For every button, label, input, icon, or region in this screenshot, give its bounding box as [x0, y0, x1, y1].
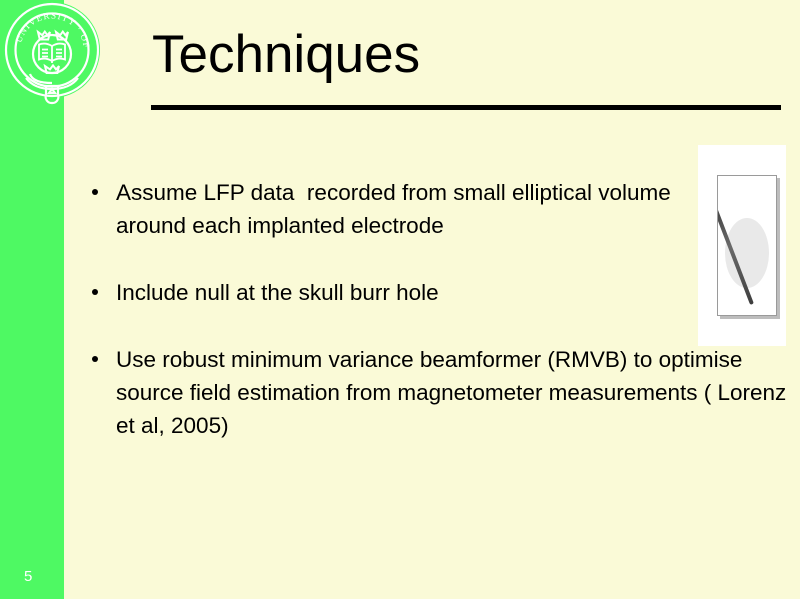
bullet-point-icon — [92, 289, 98, 295]
bullet-item: Include null at the skull burr hole — [88, 276, 716, 309]
bullet-text: Assume LFP data recorded from small elli… — [116, 176, 716, 242]
bullet-point-icon — [92, 356, 98, 362]
bullet-item: Assume LFP data recorded from small elli… — [88, 176, 716, 242]
title-underline-rule — [151, 105, 781, 110]
bullet-point-icon — [92, 189, 98, 195]
slide-title: Techniques — [152, 25, 420, 85]
oxford-university-crest-logo: UNIVERSITY · OF · OXFORD — [2, 2, 106, 106]
slide-number: 5 — [24, 568, 48, 585]
bullet-text: Use robust minimum variance beamformer (… — [116, 343, 788, 442]
electrode-diagram-image — [698, 145, 786, 346]
bullet-item: Use robust minimum variance beamformer (… — [88, 343, 788, 442]
presentation-slide: UNIVERSITY · OF · OXFORD — [0, 0, 800, 599]
slide-body-bullet-list: Assume LFP data recorded from small elli… — [88, 176, 688, 442]
bullet-text: Include null at the skull burr hole — [116, 276, 716, 309]
electrode-diagram-frame — [717, 175, 777, 316]
